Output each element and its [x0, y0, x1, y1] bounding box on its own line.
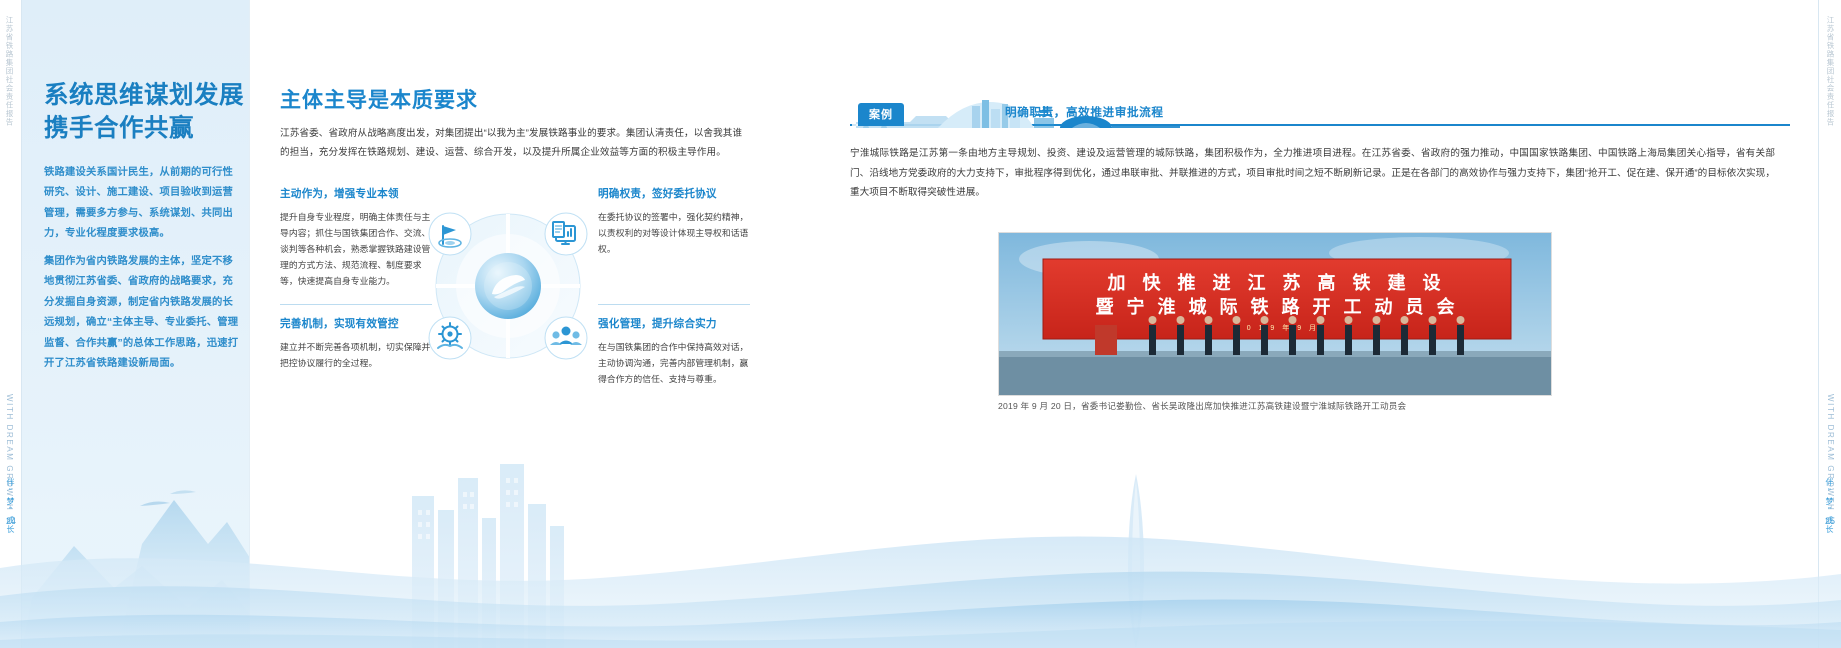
case-badge: 案例 — [858, 103, 904, 126]
gear-hands-icon — [429, 317, 471, 359]
left-page-mountain-decoration — [22, 448, 250, 648]
quadrant-rule-right — [598, 304, 750, 305]
report-title-vertical-left: 江苏省铁路集团社会责任报告 — [4, 16, 15, 127]
quadrant-heading: 主动作为，增强专业本领 — [280, 186, 432, 201]
team-people-icon — [545, 317, 587, 359]
svg-text:加 快 推 进 江 苏 高 铁 建 设: 加 快 推 进 江 苏 高 铁 建 设 — [1106, 272, 1446, 293]
monitor-report-icon — [545, 213, 587, 255]
svg-text:暨 宁 淮 城 际 铁 路 开 工 动 员 会: 暨 宁 淮 城 际 铁 路 开 工 动 员 会 — [1095, 296, 1458, 317]
flag-target-icon — [429, 213, 471, 255]
center-column: 主体主导是本质要求 江苏省委、省政府从战略高度出发，对集团提出“以我为主”发展铁… — [250, 0, 840, 648]
left-page-paragraph-1: 铁路建设关系国计民生，从前期的可行性研究、设计、施工建设、项目验收到运营管理，需… — [44, 163, 240, 245]
svg-text:2 0 1 9 年 9 月: 2 0 1 9 年 9 月 — [1235, 323, 1319, 332]
quadrant-bottom-right: 强化管理，提升综合实力 在与国铁集团的合作中保持高效对话，主动协调沟通，完善内部… — [598, 316, 750, 387]
quadrant-heading: 明确权责，签好委托协议 — [598, 186, 750, 201]
quadrant-body: 在与国铁集团的合作中保持高效对话，主动协调沟通，完善内部管理机制，赢得合作方的信… — [598, 339, 750, 387]
section-lead-paragraph: 江苏省委、省政府从战略高度出发，对集团提出“以我为主”发展铁路事业的要求。集团认… — [280, 125, 750, 162]
quadrant-bottom-left: 完善机制，实现有效管控 建立并不断完善各项机制，切实保障并把控协议履行的全过程。 — [280, 316, 432, 371]
case-body-paragraph: 宁淮城际铁路是江苏第一条由地方主导规划、投资、建设及运营管理的城际铁路，集团积极… — [850, 144, 1775, 203]
right-page: 案例 明确职责，高效推进审批流程 宁淮城际铁路是江苏第一条由地方主导规划、投资、… — [840, 0, 1841, 648]
left-page-paragraph-2: 集团作为省内铁路发展的主体，坚定不移地贯彻江苏省委、省政府的战略要求，充分发掘自… — [44, 252, 240, 374]
circular-diagram — [428, 186, 588, 386]
left-page-title-line2: 携手合作共赢 — [44, 113, 244, 146]
photo-caption: 2019 年 9 月 20 日，省委书记娄勤俭、省长吴政隆出席加快推进江苏高铁建… — [998, 400, 1598, 412]
quadrant-rule-left — [280, 304, 432, 305]
page-number-left: 24 — [6, 516, 16, 526]
quadrant-heading: 强化管理，提升综合实力 — [598, 316, 750, 331]
page-number-right: 25 — [1825, 516, 1835, 526]
case-heading: 明确职责，高效推进审批流程 — [1005, 104, 1164, 120]
quadrant-body: 建立并不断完善各项机制，切实保障并把控协议履行的全过程。 — [280, 339, 432, 371]
quadrant-top-right: 明确权责，签好委托协议 在委托协议的签署中，强化契约精神，以责权利的对等设计体现… — [598, 186, 750, 257]
report-title-vertical-right: 江苏省铁路集团社会责任报告 — [1825, 16, 1836, 127]
case-header: 案例 明确职责，高效推进审批流程 — [850, 98, 1790, 142]
quadrant-top-left: 主动作为，增强专业本领 提升自身专业程度，明确主体责任与主导内容；抓住与国铁集团… — [280, 186, 432, 289]
quadrant-body: 在委托协议的签署中，强化契约精神，以责权利的对等设计体现主导权和话语权。 — [598, 209, 750, 257]
left-page: 江苏省铁路集团社会责任报告 WITH DREAM GROWTH 伴“梦”成长 2… — [0, 0, 250, 648]
left-page-edge-rule — [21, 0, 22, 648]
magazine-spread: 江苏省铁路集团社会责任报告 WITH DREAM GROWTH 伴“梦”成长 2… — [0, 0, 1841, 648]
left-page-title: 系统思维谋划发展 携手合作共赢 — [44, 80, 244, 146]
section-title: 主体主导是本质要求 — [280, 84, 478, 114]
right-page-edge-rule — [1818, 0, 1819, 648]
ceremony-photo: 加 快 推 进 江 苏 高 铁 建 设 暨 宁 淮 城 际 铁 路 开 工 动 … — [998, 232, 1552, 396]
quadrant-body: 提升自身专业程度，明确主体责任与主导内容；抓住与国铁集团合作、交流、谈判等各种机… — [280, 209, 432, 289]
left-page-title-line1: 系统思维谋划发展 — [44, 80, 244, 113]
quadrant-heading: 完善机制，实现有效管控 — [280, 316, 432, 331]
